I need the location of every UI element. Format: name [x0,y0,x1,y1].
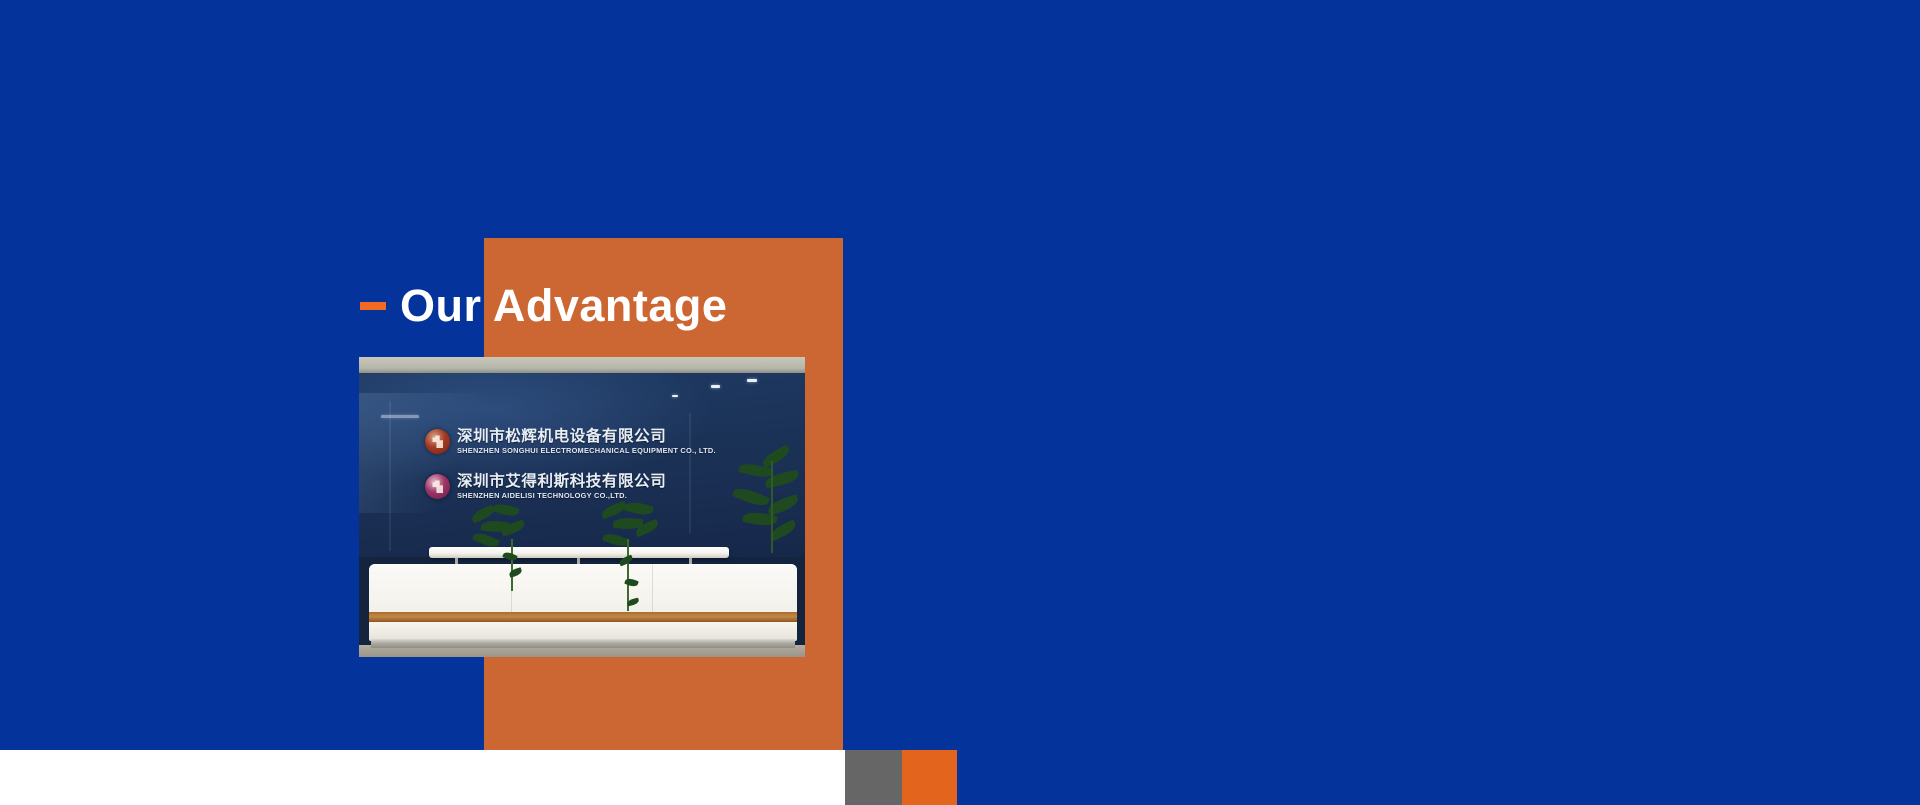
wall-strip-light [381,415,419,418]
signage-english-name: SHENZHEN SONGHUI ELECTROMECHANICAL EQUIP… [457,447,716,454]
ceiling-light-reflection [672,395,678,397]
plant-leaf [760,445,792,469]
potted-plant-right [731,451,801,557]
signage-text: 深圳市松辉机电设备有限公司 SHENZHEN SONGHUI ELECTROME… [457,429,716,454]
aidelisi-logo-emblem-icon [425,474,450,499]
plant-leaf [732,485,770,510]
signage-text: 深圳市艾得利斯科技有限公司 SHENZHEN AIDELISI TECHNOLO… [457,474,666,499]
lobby-photo: 深圳市松辉机电设备有限公司 SHENZHEN SONGHUI ELECTROME… [359,357,805,657]
desk-metal-base [371,639,795,648]
heading-dash-icon [360,302,386,310]
potted-plant-center-left [467,505,533,557]
ceiling-light-reflection [711,385,720,388]
heading-text: Our Advantage [400,283,727,328]
page-title: Our Advantage [360,283,727,328]
slide-canvas: Our Advantage 深圳市松辉机电设备有限公司 SHENZHEN SON… [0,0,1920,805]
signage-english-name: SHENZHEN AIDELISI TECHNOLOGY CO.,LTD. [457,492,666,499]
signage-chinese-name: 深圳市艾得利斯科技有限公司 [457,474,666,490]
bottom-gray-swatch [845,750,902,805]
plant-leaf [602,531,630,549]
ceiling-light-reflection [747,379,757,382]
signage-row: 深圳市艾得利斯科技有限公司 SHENZHEN AIDELISI TECHNOLO… [425,474,666,499]
bottom-orange-swatch [902,750,957,805]
photo-ceiling [359,357,805,373]
plant-leaf [492,502,520,519]
desk-lower-panel [369,622,797,639]
signage-row: 深圳市松辉机电设备有限公司 SHENZHEN SONGHUI ELECTROME… [425,429,716,454]
bottom-white-band [0,750,845,805]
plant-leaf [472,530,500,550]
hanging-vine [511,539,513,591]
signage-chinese-name: 深圳市松辉机电设备有限公司 [457,429,716,445]
songhui-logo-emblem-icon [425,429,450,454]
potted-plant-center-right [595,503,667,557]
plant-stem [771,461,773,553]
desk-wood-stripe [369,612,797,622]
plant-leaf [624,500,654,517]
